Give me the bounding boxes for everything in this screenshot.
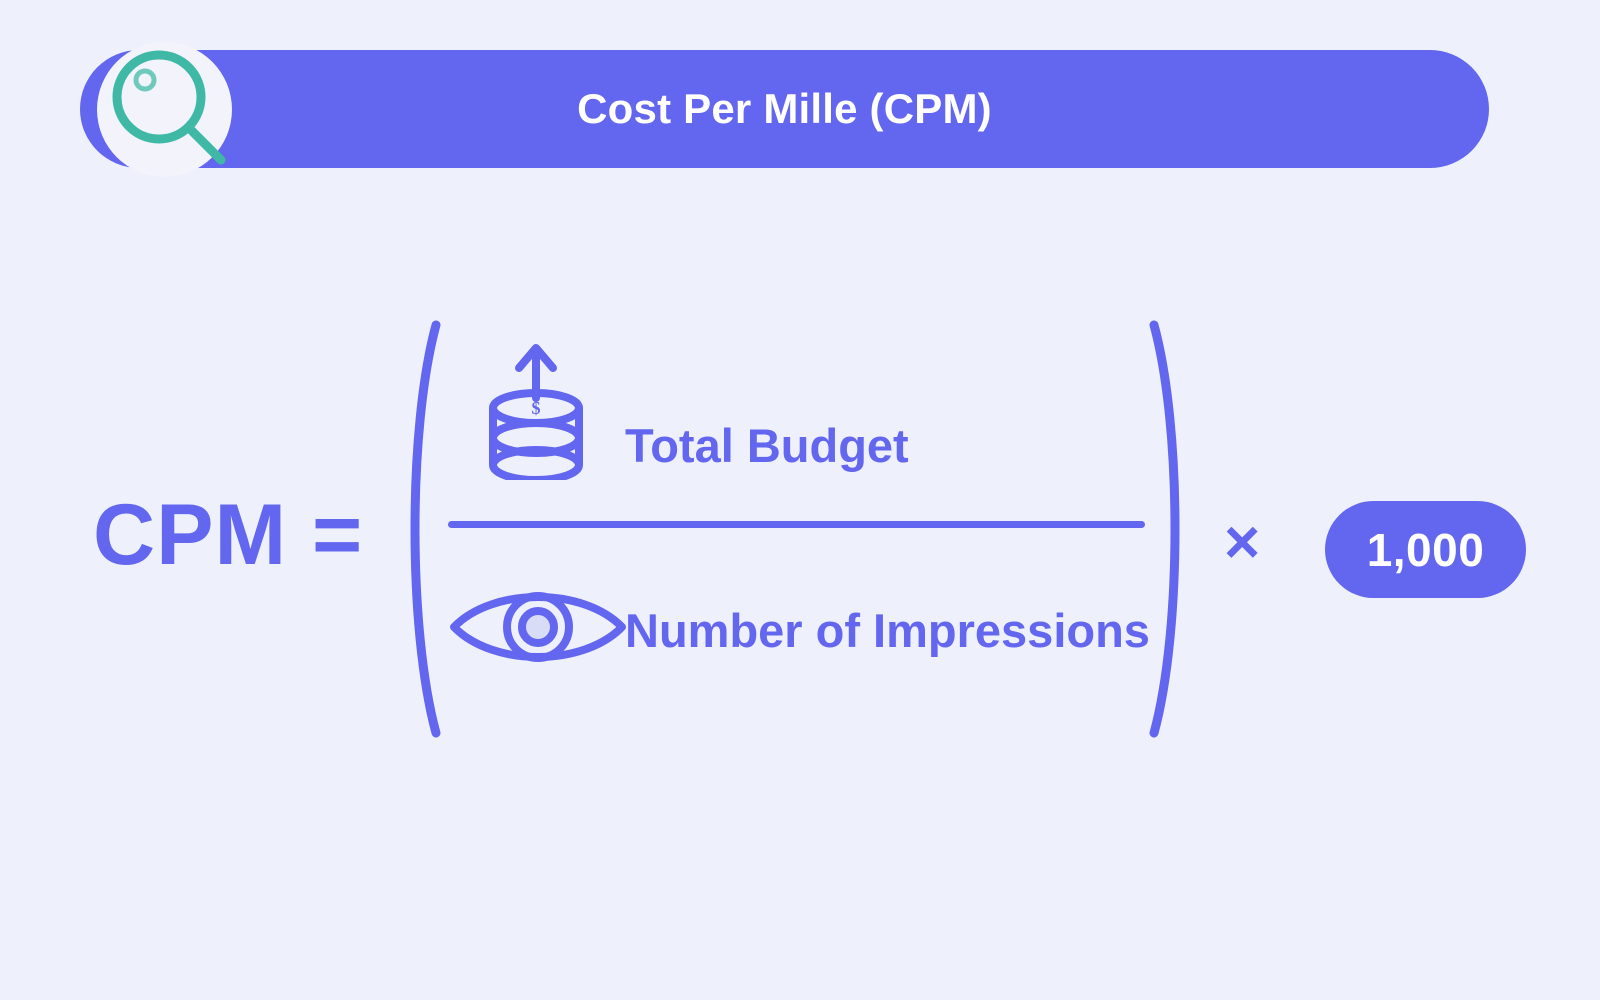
eye-icon: [448, 585, 628, 675]
multiply-operator: ×: [1224, 512, 1260, 574]
fraction-bar: [448, 521, 1145, 528]
denominator-label: Number of Impressions: [625, 603, 1150, 658]
formula-area: CPM = $: [0, 0, 1600, 1000]
dollar-symbol: $: [532, 398, 541, 418]
money-stack-icon: $: [481, 330, 591, 485]
denominator: Number of Impressions: [448, 545, 1148, 705]
numerator-label: Total Budget: [625, 418, 909, 473]
multiplier-badge: 1,000: [1325, 501, 1526, 598]
multiplier-value: 1,000: [1367, 523, 1485, 577]
numerator: $ Total Budget: [448, 330, 1148, 505]
formula-result-label: CPM =: [93, 492, 363, 578]
